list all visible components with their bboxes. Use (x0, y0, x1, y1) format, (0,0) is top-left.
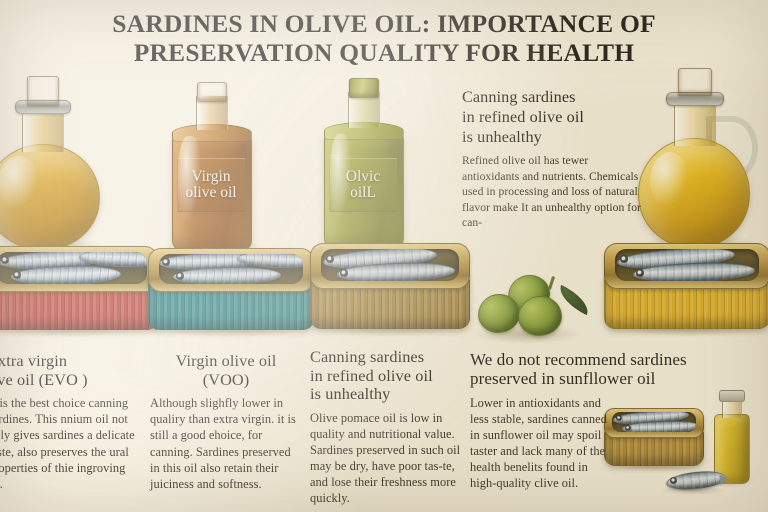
col1-heading-line-2: live oil (EVO ) (0, 371, 140, 390)
column-virgin: Virgin olive oil (VOO) Although slighfly… (150, 352, 302, 492)
col2-heading-line-2: (VOO) (150, 371, 302, 390)
col4-heading-line-2: preserved in sunfllower oil (470, 369, 766, 388)
title-line-2: PRESERVATION QUALITY FOR HEALTH (26, 39, 742, 68)
infographic-canvas: SARDINES IN OLIVE OIL: IMPORTANCE OF PRE… (0, 0, 768, 512)
fish-eye (1, 256, 9, 264)
virgin-bottle-cork (197, 82, 227, 102)
col4-heading: We do not recommend sardines preserved i… (470, 350, 766, 389)
right-top-heading: Canning sardines in refined olive oil is… (462, 88, 644, 147)
column-extra-virgin: Extra virgin live oil (EVO ) ts is the b… (0, 352, 140, 492)
col1-heading: Extra virgin live oil (EVO ) (0, 352, 140, 389)
virgin-label-line-2: olive oil (185, 185, 236, 201)
column-refined: Canning sardines in refined olive oil is… (310, 348, 462, 506)
title-line-1: SARDINES IN OLIVE OIL: IMPORTANCE OF (26, 10, 742, 39)
green-olives-cluster (468, 272, 596, 348)
carafe-body (638, 138, 750, 248)
tin-brass-inner (321, 249, 459, 281)
col4-body: Lower in antioxidants and less stable, s… (470, 395, 610, 492)
amber-round-decanter (0, 78, 110, 260)
right-top-body: Refined olive oil has tewer antioxidants… (462, 153, 644, 231)
right-top-heading-line-3: is unhealthy (462, 128, 644, 148)
col4-heading-line-1: We do not recommend sardines (470, 350, 766, 369)
olvic-bottle-cork (349, 78, 379, 98)
sardine-tin-brass (310, 243, 470, 331)
olvic-label-line-2: oilL (350, 185, 376, 201)
decanter-body (0, 144, 100, 250)
right-top-heading-line-2: in refined olive oil (462, 108, 644, 128)
sardine-tin-red (0, 246, 158, 332)
col2-heading: Virgin olive oil (VOO) (150, 352, 302, 389)
fish-eye (13, 271, 21, 279)
fish-eye (620, 255, 628, 263)
tin-red-inner (0, 252, 147, 284)
col2-body: Although slighfly lower in qualiry than … (150, 395, 302, 492)
page-title: SARDINES IN OLIVE OIL: IMPORTANCE OF PRE… (0, 10, 768, 67)
virgin-olive-oil-bottle: Virgin olive oil (160, 88, 266, 260)
tin-teal-inner (159, 254, 303, 284)
col1-heading-line-1: Extra virgin (0, 352, 140, 371)
fish-eye (162, 258, 170, 266)
col3-body: Olive pomace oil is low in quality and n… (310, 410, 462, 507)
col3-heading: Canning sardines in refined olive oil is… (310, 348, 462, 404)
col2-heading-line-1: Virgin olive oil (150, 352, 302, 371)
olvic-label-line-1: Olvic (346, 169, 380, 185)
col1-body: ts is the best choice canning sardines. … (0, 395, 140, 492)
fish-eye (340, 269, 348, 277)
col3-heading-line-3: is unhealthy (310, 385, 462, 404)
fish-eye (636, 269, 644, 277)
fish-eye (326, 255, 334, 263)
right-top-panel: Canning sardines in refined olive oil is… (462, 88, 644, 231)
sardine-tin-yellow (604, 243, 768, 331)
col3-heading-line-2: in refined olive oil (310, 367, 462, 386)
col3-heading-line-1: Canning sardines (310, 348, 462, 367)
fish-eye (176, 272, 184, 280)
sardine-tin-teal (148, 248, 314, 332)
column-sunflower: We do not recommend sardines preserved i… (470, 350, 766, 492)
virgin-bottle-label: Virgin olive oil (177, 158, 245, 212)
carafe-cork (678, 68, 712, 96)
olvic-oil-bottle: Olvic oilL (312, 82, 418, 260)
decanter-cork (27, 76, 59, 106)
right-top-heading-line-1: Canning sardines (462, 88, 644, 108)
yellow-carafe-with-handle (636, 72, 768, 262)
virgin-label-line-1: Virgin (191, 169, 230, 185)
tin-yellow-inner (615, 249, 759, 281)
olvic-bottle-label: Olvic oilL (329, 158, 397, 212)
